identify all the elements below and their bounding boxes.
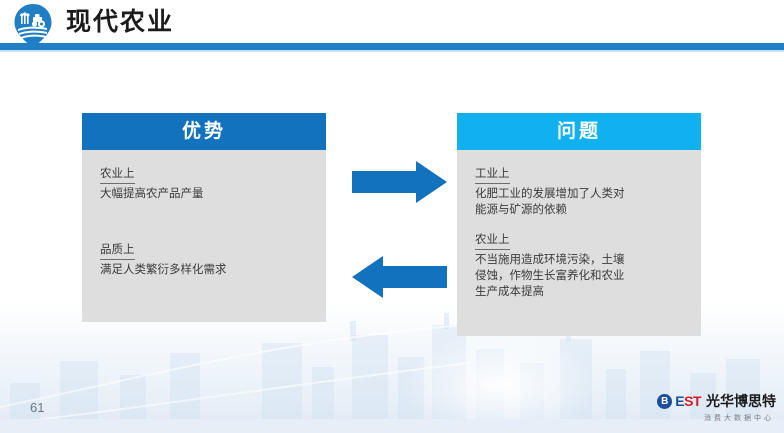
column-problems: 问题 工业上 化肥工业的发展增加了人类对 能源与矿源的依赖 农业上 不当施用造成… — [457, 113, 701, 336]
advantages-paragraph-1-title: 农业上 — [100, 166, 135, 184]
page-number: 61 — [30, 400, 44, 415]
column-problems-heading: 问题 — [457, 113, 701, 150]
advantages-paragraph-1: 农业上 大幅提高农产品产量 — [100, 166, 308, 202]
problems-paragraph-1-title: 工业上 — [475, 166, 510, 184]
brand-best-letters-st: ST — [684, 393, 701, 409]
problems-paragraph-2-title: 农业上 — [475, 232, 510, 250]
background-glow — [400, 330, 600, 433]
brand-logo: B EST 光华博思特 消费大数据中心 — [657, 391, 776, 423]
arrow-left-icon — [352, 256, 447, 298]
brand-subtitle: 消费大数据中心 — [657, 413, 774, 423]
advantages-paragraph-2-text: 满足人类繁衍多样化需求 — [100, 262, 308, 278]
brand-best-letter-e: E — [675, 393, 684, 409]
brand-mark-icon: B — [657, 394, 672, 409]
brand-best-text: EST — [675, 393, 701, 409]
slide-header: 现代农业 — [0, 0, 784, 52]
brand-logo-row: B EST 光华博思特 — [657, 391, 776, 411]
arrow-right-icon — [352, 161, 447, 203]
slide: 现代农业 优势 农业上 大幅提高农产品产量 品质上 满足人类繁衍多样化需求 问题… — [0, 0, 784, 433]
problems-spacer — [475, 218, 683, 232]
advantages-paragraph-2: 品质上 满足人类繁衍多样化需求 — [100, 242, 308, 278]
column-advantages: 优势 农业上 大幅提高农产品产量 品质上 满足人类繁衍多样化需求 — [82, 113, 326, 322]
problems-paragraph-2-text: 不当施用造成环境污染，土壤 侵蚀，作物生长富养化和农业 生产成本提高 — [475, 252, 683, 300]
advantages-spacer — [100, 202, 308, 242]
advantages-paragraph-1-text: 大幅提高农产品产量 — [100, 186, 308, 202]
problems-paragraph-1-text: 化肥工业的发展增加了人类对 能源与矿源的依赖 — [475, 186, 683, 218]
brand-chinese-name: 光华博思特 — [706, 391, 776, 411]
column-problems-body: 工业上 化肥工业的发展增加了人类对 能源与矿源的依赖 农业上 不当施用造成环境污… — [457, 150, 701, 336]
problems-paragraph-2: 农业上 不当施用造成环境污染，土壤 侵蚀，作物生长富养化和农业 生产成本提高 — [475, 232, 683, 300]
page-title: 现代农业 — [66, 5, 174, 39]
column-advantages-heading: 优势 — [82, 113, 326, 150]
column-advantages-body: 农业上 大幅提高农产品产量 品质上 满足人类繁衍多样化需求 — [82, 150, 326, 322]
farm-pin-icon — [10, 3, 56, 49]
advantages-paragraph-2-title: 品质上 — [100, 242, 135, 260]
problems-paragraph-1: 工业上 化肥工业的发展增加了人类对 能源与矿源的依赖 — [475, 166, 683, 218]
